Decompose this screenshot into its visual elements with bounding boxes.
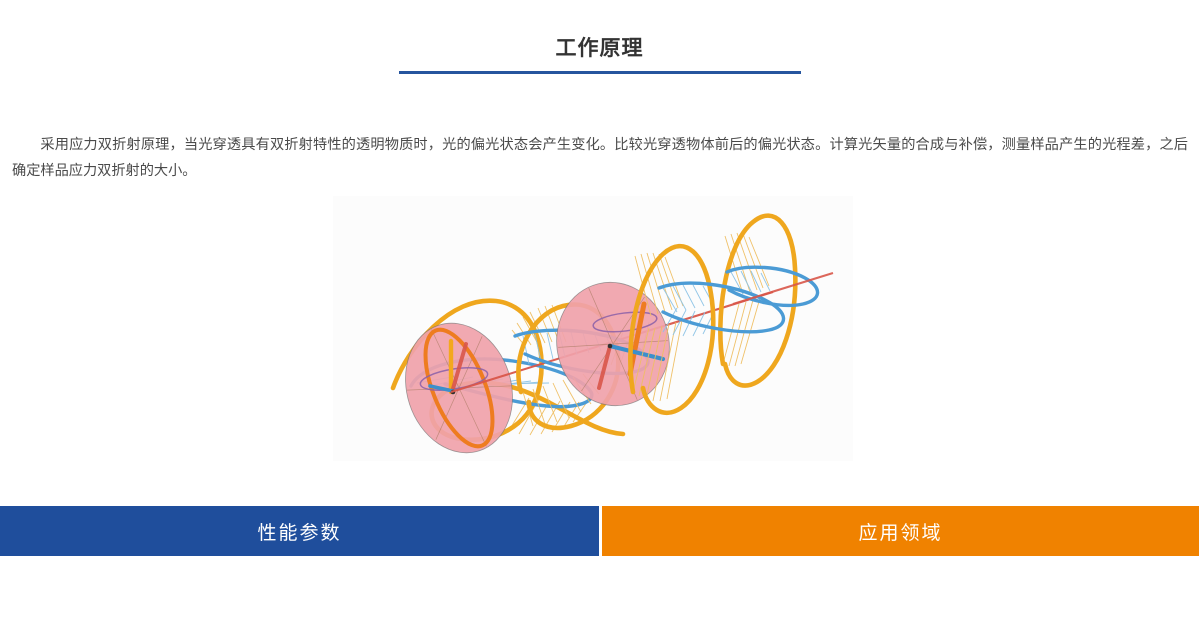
bottom-tab-bar: 性能参数 应用领域 [0,506,1199,556]
principle-description-paragraph: 采用应力双折射原理，当光穿透具有双折射特性的透明物质时，光的偏光状态会产生变化。… [12,132,1188,184]
tab-application-fields[interactable]: 应用领域 [602,506,1199,556]
title-underline-rule [399,71,801,74]
page-header: 工作原理 [0,34,1199,74]
page-title: 工作原理 [0,34,1199,64]
stress-birefringence-diagram-svg [333,196,853,461]
tab-performance-parameters[interactable]: 性能参数 [0,506,599,556]
sample-disc-origin-point [608,344,613,349]
principle-diagram-figure [333,196,853,461]
